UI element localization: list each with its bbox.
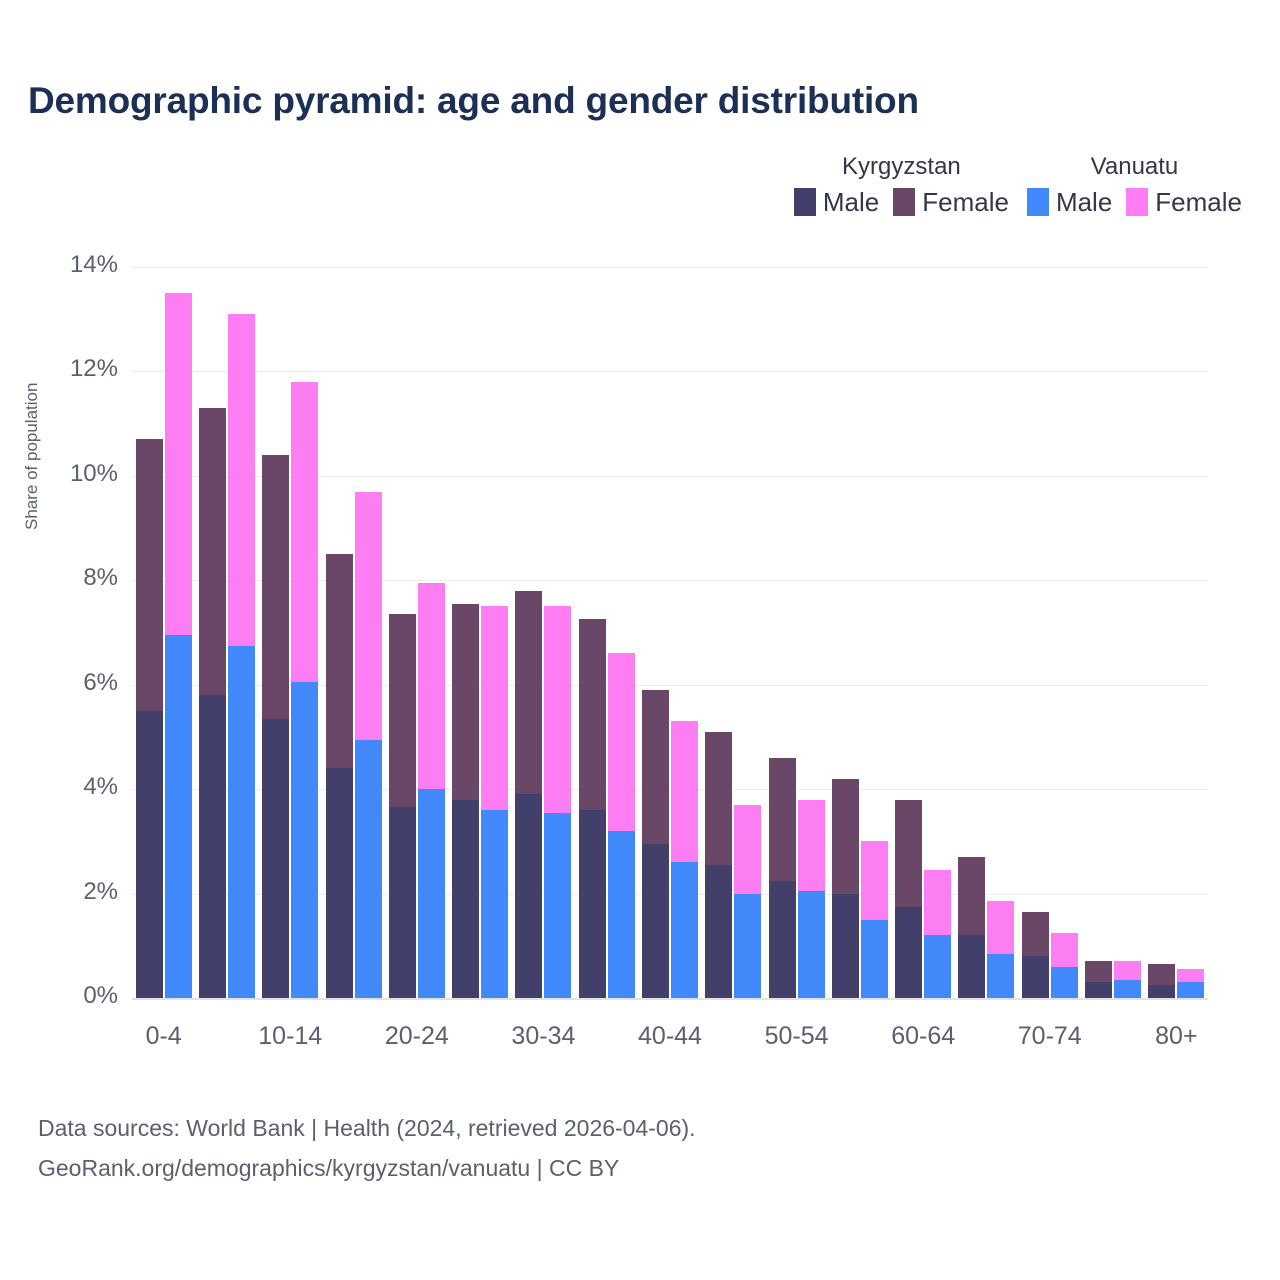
bar-segment-vanuatu-female[interactable] (671, 721, 698, 862)
chart-page: Demographic pyramid: age and gender dist… (0, 0, 1280, 1280)
bar-vanuatu[interactable] (355, 492, 382, 998)
footer-line-attribution: GeoRank.org/demographics/kyrgyzstan/vanu… (38, 1148, 696, 1188)
bar-segment-kyrgyzstan-male[interactable] (1085, 982, 1112, 998)
bar-segment-kyrgyzstan-female[interactable] (452, 604, 479, 800)
bar-kyrgyzstan[interactable] (389, 614, 416, 998)
bar-segment-vanuatu-male[interactable] (1177, 982, 1204, 998)
bar-segment-vanuatu-female[interactable] (1051, 933, 1078, 967)
bar-kyrgyzstan[interactable] (1085, 961, 1112, 998)
bar-segment-vanuatu-male[interactable] (1114, 980, 1141, 998)
bar-segment-kyrgyzstan-female[interactable] (199, 408, 226, 695)
x-axis-tick-label: 50-54 (765, 1022, 829, 1051)
bar-segment-kyrgyzstan-female[interactable] (642, 690, 669, 844)
bar-kyrgyzstan[interactable] (1148, 964, 1175, 998)
bar-segment-kyrgyzstan-female[interactable] (705, 732, 732, 865)
bar-segment-kyrgyzstan-male[interactable] (958, 935, 985, 998)
bar-vanuatu[interactable] (987, 901, 1014, 998)
bar-kyrgyzstan[interactable] (705, 732, 732, 998)
bar-segment-vanuatu-female[interactable] (1177, 969, 1204, 982)
bar-segment-kyrgyzstan-male[interactable] (199, 695, 226, 998)
bar-segment-vanuatu-female[interactable] (608, 653, 635, 831)
bar-segment-kyrgyzstan-male[interactable] (136, 711, 163, 998)
bar-vanuatu[interactable] (544, 606, 571, 998)
bar-segment-vanuatu-female[interactable] (734, 805, 761, 894)
bar-segment-vanuatu-female[interactable] (165, 293, 192, 635)
bar-segment-kyrgyzstan-male[interactable] (1022, 956, 1049, 998)
bar-segment-kyrgyzstan-male[interactable] (769, 881, 796, 998)
bar-vanuatu[interactable] (1051, 933, 1078, 998)
bar-segment-vanuatu-female[interactable] (924, 870, 951, 935)
bar-vanuatu[interactable] (608, 653, 635, 998)
bar-kyrgyzstan[interactable] (452, 604, 479, 998)
bar-segment-kyrgyzstan-female[interactable] (895, 800, 922, 907)
y-axis-tick-label: 12% (0, 355, 118, 383)
bar-segment-vanuatu-male[interactable] (608, 831, 635, 998)
bar-segment-kyrgyzstan-male[interactable] (1148, 985, 1175, 998)
y-axis-tick-label: 6% (0, 669, 118, 697)
bar-vanuatu[interactable] (165, 293, 192, 998)
bar-segment-kyrgyzstan-female[interactable] (769, 758, 796, 881)
bar-segment-kyrgyzstan-female[interactable] (1085, 961, 1112, 982)
bar-segment-kyrgyzstan-female[interactable] (262, 455, 289, 719)
bar-segment-kyrgyzstan-female[interactable] (1022, 912, 1049, 956)
bar-segment-vanuatu-female[interactable] (418, 583, 445, 789)
bar-vanuatu[interactable] (228, 314, 255, 998)
bar-segment-kyrgyzstan-female[interactable] (136, 439, 163, 711)
bar-vanuatu[interactable] (481, 606, 508, 998)
bar-segment-kyrgyzstan-female[interactable] (579, 619, 606, 810)
bar-segment-vanuatu-male[interactable] (418, 789, 445, 998)
bar-segment-kyrgyzstan-male[interactable] (832, 894, 859, 998)
bar-segment-vanuatu-male[interactable] (924, 935, 951, 998)
bar-vanuatu[interactable] (418, 583, 445, 998)
bar-kyrgyzstan[interactable] (199, 408, 226, 998)
plot-wrapper: Share of population 0%2%4%6%8%10%12%14% … (0, 0, 1280, 1280)
x-axis-tick-label: 20-24 (385, 1022, 449, 1051)
y-axis-tick-label: 0% (0, 982, 118, 1010)
bar-segment-vanuatu-male[interactable] (355, 740, 382, 998)
bar-segment-kyrgyzstan-female[interactable] (1148, 964, 1175, 985)
plot-area (132, 267, 1208, 998)
bar-kyrgyzstan[interactable] (515, 591, 542, 998)
bar-segment-kyrgyzstan-male[interactable] (389, 807, 416, 998)
bar-segment-vanuatu-male[interactable] (798, 891, 825, 998)
bar-segment-vanuatu-male[interactable] (481, 810, 508, 998)
bar-segment-vanuatu-male[interactable] (1051, 967, 1078, 998)
bar-kyrgyzstan[interactable] (136, 439, 163, 998)
bar-segment-vanuatu-male[interactable] (291, 682, 318, 998)
bar-vanuatu[interactable] (861, 841, 888, 998)
bar-segment-kyrgyzstan-female[interactable] (515, 591, 542, 795)
bar-segment-kyrgyzstan-male[interactable] (515, 794, 542, 998)
bar-segment-kyrgyzstan-male[interactable] (326, 768, 353, 998)
bar-segment-kyrgyzstan-male[interactable] (579, 810, 606, 998)
y-axis-title: Share of population (22, 383, 42, 530)
y-axis-tick-label: 2% (0, 878, 118, 906)
chart-footer: Data sources: World Bank | Health (2024,… (38, 1108, 696, 1188)
bar-kyrgyzstan[interactable] (642, 690, 669, 998)
y-axis-tick-label: 10% (0, 460, 118, 488)
bar-vanuatu[interactable] (291, 382, 318, 998)
bar-segment-vanuatu-female[interactable] (987, 901, 1014, 953)
bar-segment-kyrgyzstan-male[interactable] (262, 719, 289, 998)
bar-segment-vanuatu-female[interactable] (355, 492, 382, 740)
bar-kyrgyzstan[interactable] (1022, 912, 1049, 998)
x-axis-tick-label: 40-44 (638, 1022, 702, 1051)
x-axis-tick-label: 0-4 (146, 1022, 182, 1051)
bar-segment-vanuatu-female[interactable] (544, 606, 571, 812)
x-axis-tick-label: 10-14 (258, 1022, 322, 1051)
bar-segment-kyrgyzstan-male[interactable] (642, 844, 669, 998)
footer-line-sources: Data sources: World Bank | Health (2024,… (38, 1108, 696, 1148)
bar-segment-vanuatu-male[interactable] (987, 954, 1014, 998)
bar-vanuatu[interactable] (1114, 961, 1141, 998)
x-axis-tick-label: 30-34 (511, 1022, 575, 1051)
bar-kyrgyzstan[interactable] (832, 779, 859, 998)
bar-segment-vanuatu-female[interactable] (291, 382, 318, 682)
bar-segment-vanuatu-female[interactable] (1114, 961, 1141, 979)
bar-segment-kyrgyzstan-female[interactable] (326, 554, 353, 768)
bar-segment-vanuatu-female[interactable] (798, 800, 825, 891)
bar-segment-vanuatu-female[interactable] (861, 841, 888, 919)
bars-layer (132, 267, 1208, 998)
y-axis-tick-label: 4% (0, 773, 118, 801)
bar-segment-kyrgyzstan-female[interactable] (832, 779, 859, 894)
bar-segment-kyrgyzstan-male[interactable] (452, 800, 479, 998)
bar-segment-kyrgyzstan-female[interactable] (958, 857, 985, 935)
bar-kyrgyzstan[interactable] (579, 619, 606, 998)
x-axis-tick-label: 60-64 (891, 1022, 955, 1051)
bar-segment-vanuatu-male[interactable] (165, 635, 192, 998)
bar-kyrgyzstan[interactable] (895, 800, 922, 998)
bar-segment-vanuatu-female[interactable] (228, 314, 255, 646)
x-axis-tick-label: 70-74 (1018, 1022, 1082, 1051)
bar-segment-kyrgyzstan-male[interactable] (705, 865, 732, 998)
y-axis-tick-label: 14% (0, 251, 118, 279)
bar-segment-kyrgyzstan-male[interactable] (895, 907, 922, 998)
bar-vanuatu[interactable] (734, 805, 761, 998)
gridline (132, 998, 1208, 1000)
bar-segment-vanuatu-male[interactable] (861, 920, 888, 998)
y-axis-tick-label: 8% (0, 564, 118, 592)
bar-segment-vanuatu-male[interactable] (734, 894, 761, 998)
bar-kyrgyzstan[interactable] (262, 455, 289, 998)
bar-segment-vanuatu-female[interactable] (481, 606, 508, 810)
bar-vanuatu[interactable] (798, 800, 825, 998)
bar-vanuatu[interactable] (924, 870, 951, 998)
bar-kyrgyzstan[interactable] (958, 857, 985, 998)
bar-segment-kyrgyzstan-female[interactable] (389, 614, 416, 807)
bar-kyrgyzstan[interactable] (769, 758, 796, 998)
bar-segment-vanuatu-male[interactable] (671, 862, 698, 998)
bar-vanuatu[interactable] (1177, 969, 1204, 998)
bar-segment-vanuatu-male[interactable] (228, 646, 255, 998)
bar-vanuatu[interactable] (671, 721, 698, 998)
bar-kyrgyzstan[interactable] (326, 554, 353, 998)
bar-segment-vanuatu-male[interactable] (544, 813, 571, 998)
x-axis-tick-label: 80+ (1155, 1022, 1197, 1051)
